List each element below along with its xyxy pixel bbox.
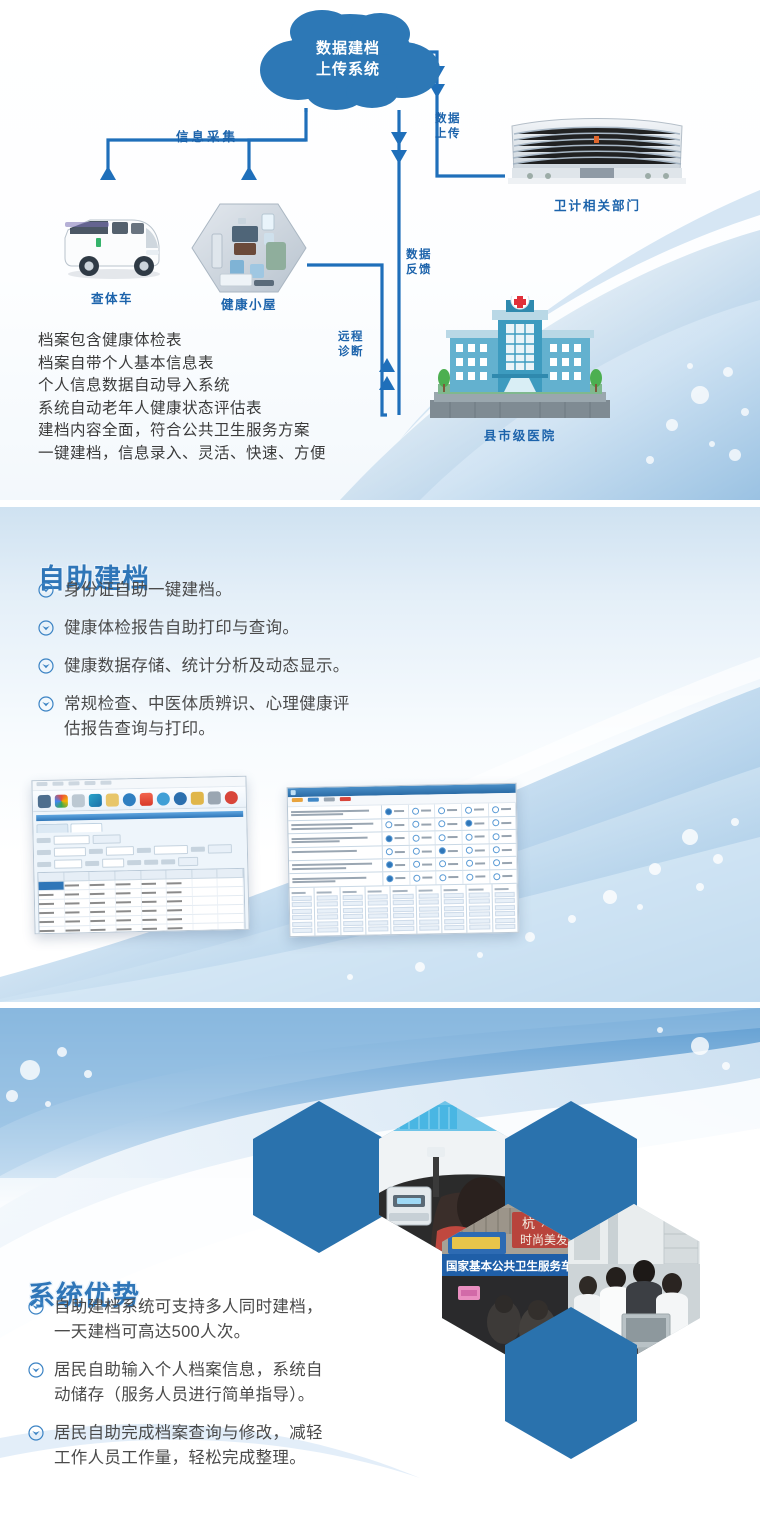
node-caption-health-authority: 卫计相关部门 <box>505 195 690 214</box>
flow-feedback-l2: 反馈 <box>406 263 450 278</box>
diagram-feature-items: 档案包含健康体检表 档案自带个人基本信息表 个人信息数据自动导入系统 系统自动老… <box>38 330 438 466</box>
list-item: 居民自助输入个人档案信息，系统自 动储存（服务人员进行简单指导）。 <box>28 1358 458 1408</box>
form-column[interactable] <box>340 886 367 937</box>
feature-item: 系统自动老年人健康状态评估表 <box>38 398 438 421</box>
toolbar-icon-chart[interactable] <box>140 793 153 806</box>
node-caption-exam-vehicle: 查体车 <box>62 288 162 307</box>
radio-option[interactable] <box>410 871 437 884</box>
toolbar-icon-tools[interactable] <box>208 791 221 804</box>
radio-option[interactable] <box>462 817 489 830</box>
window-icon <box>291 790 296 795</box>
list-item-text: 居民自助输入个人档案信息，系统自 动储存（服务人员进行简单指导）。 <box>54 1358 458 1408</box>
form-column[interactable] <box>492 883 519 937</box>
feature-item: 档案自带个人基本信息表 <box>38 353 438 376</box>
form-column[interactable] <box>315 887 342 937</box>
cloud-label-line1: 数据建档 <box>268 38 428 59</box>
node-caption-health-cabin: 健康小屋 <box>190 294 308 313</box>
radio-option[interactable] <box>490 830 517 843</box>
question-text <box>289 846 383 860</box>
toolbar-icon-2[interactable] <box>55 795 68 808</box>
radio-option[interactable] <box>490 843 517 856</box>
radio-option[interactable] <box>382 818 409 831</box>
radio-option[interactable] <box>437 871 464 884</box>
radio-option[interactable] <box>436 844 463 857</box>
radio-option[interactable] <box>409 845 436 858</box>
radio-option[interactable] <box>435 804 462 817</box>
form-column-grid[interactable] <box>290 883 519 937</box>
health-cabin-icon <box>190 202 308 294</box>
toolbar-icon-5[interactable] <box>123 793 136 806</box>
architecture-diagram: 数据建档 上传系统 信息采集 数据 上传 数据 反馈 远程 诊断 <box>0 0 760 500</box>
health-authority-building-icon <box>508 110 686 188</box>
option-group[interactable] <box>383 870 518 885</box>
assessment-form-grid[interactable] <box>288 803 519 937</box>
option-group[interactable] <box>382 816 517 831</box>
radio-option[interactable] <box>383 858 410 871</box>
county-city-hospital-icon <box>420 296 620 426</box>
chevron-down-circle-icon <box>38 619 54 635</box>
advantages-bullet-list: 自助建档系统可支持多人同时建档， 一天建档可高达500人次。 居民自助输入个人档… <box>28 1295 458 1484</box>
toolbar-icon-7[interactable] <box>174 792 187 805</box>
radio-option[interactable] <box>408 804 435 817</box>
radio-option[interactable] <box>436 817 463 830</box>
radio-option[interactable] <box>489 816 516 829</box>
form-column[interactable] <box>290 887 317 937</box>
chevron-down-circle-icon <box>28 1361 44 1377</box>
form-column[interactable] <box>365 886 392 937</box>
chevron-down-circle-icon <box>38 695 54 711</box>
question-text <box>288 832 382 846</box>
form-column[interactable] <box>416 885 443 937</box>
chevron-down-circle-icon <box>28 1298 44 1314</box>
list-item: 自助建档系统可支持多人同时建档， 一天建档可高达500人次。 <box>28 1295 458 1345</box>
list-item-text: 身份证自助一键建档。 <box>64 578 478 603</box>
radio-option[interactable] <box>382 845 409 858</box>
list-item: 健康体检报告自助打印与查询。 <box>38 616 478 641</box>
screenshot-data-grid[interactable] <box>37 868 245 934</box>
section-system-diagram: 数据建档 上传系统 信息采集 数据 上传 数据 反馈 远程 诊断 <box>0 0 760 500</box>
question-text <box>288 819 382 833</box>
toolbar-icon-1[interactable] <box>38 795 51 808</box>
toolbar-icon-search[interactable] <box>72 794 85 807</box>
toolbar-icon-4[interactable] <box>106 793 119 806</box>
radio-option[interactable] <box>409 858 436 871</box>
chevron-down-circle-icon <box>38 581 54 597</box>
radio-option[interactable] <box>462 803 489 816</box>
flow-label-data-upload: 数据 上传 <box>435 112 479 142</box>
list-item-text: 自助建档系统可支持多人同时建档， 一天建档可高达500人次。 <box>54 1295 458 1345</box>
screenshot-tabs[interactable] <box>36 820 243 833</box>
screenshot-query-row <box>37 844 244 857</box>
feature-item: 一键建档，信息录入、灵活、快速、方便 <box>38 443 438 466</box>
question-text <box>288 805 382 819</box>
toolbar-icon-6[interactable] <box>157 792 170 805</box>
elderly-health-assessment-form-screenshot[interactable] <box>287 783 520 937</box>
option-group[interactable] <box>382 803 517 818</box>
radio-option[interactable] <box>409 818 436 831</box>
radio-option[interactable] <box>382 832 409 845</box>
flow-feedback-l1: 数据 <box>406 248 450 263</box>
toolbar-icon-key[interactable] <box>191 792 204 805</box>
screenshot-filter-row <box>37 832 244 845</box>
option-group[interactable] <box>383 856 518 871</box>
list-item-text: 常规检查、中医体质辨识、心理健康评 估报告查询与打印。 <box>64 692 478 742</box>
flow-upload-l2: 上传 <box>435 127 479 142</box>
option-group[interactable] <box>382 830 517 845</box>
list-item: 健康数据存储、统计分析及动态显示。 <box>38 654 478 679</box>
feature-item: 个人信息数据自动导入系统 <box>38 375 438 398</box>
list-item: 身份证自助一键建档。 <box>38 578 478 603</box>
node-caption-county-hospital: 县市级医院 <box>420 425 620 444</box>
feature-item: 档案包含健康体检表 <box>38 330 438 353</box>
form-column[interactable] <box>441 884 468 937</box>
archive-management-app-screenshot[interactable] <box>31 776 249 934</box>
toolbar-icon-exit[interactable] <box>225 791 238 804</box>
chevron-down-circle-icon <box>28 1424 44 1440</box>
radio-option[interactable] <box>409 831 436 844</box>
toolbar-icon-3[interactable] <box>89 794 102 807</box>
flow-label-info-collect: 信息采集 <box>152 130 262 145</box>
radio-option[interactable] <box>436 831 463 844</box>
cloud-label: 数据建档 上传系统 <box>268 38 428 80</box>
radio-option[interactable] <box>463 830 490 843</box>
radio-option[interactable] <box>489 803 516 816</box>
radio-option[interactable] <box>490 856 517 869</box>
radio-option[interactable] <box>383 872 410 885</box>
radio-option[interactable] <box>463 870 490 883</box>
list-item-text: 健康数据存储、统计分析及动态显示。 <box>64 654 478 679</box>
flow-upload-l1: 数据 <box>435 112 479 127</box>
self-service-bullet-list: 身份证自助一键建档。 健康体检报告自助打印与查询。 健康数据存储、统计分析及动态… <box>38 578 478 755</box>
question-text <box>289 859 383 873</box>
list-item-text: 居民自助完成档案查询与修改，减轻 工作人员工作量，轻松完成整理。 <box>54 1421 458 1471</box>
chevron-down-circle-icon <box>38 657 54 673</box>
question-text <box>289 872 383 886</box>
poster-page: 数据建档 上传系统 信息采集 数据 上传 数据 反馈 远程 诊断 <box>0 0 760 1513</box>
screenshot-options-row <box>37 856 244 869</box>
radio-option[interactable] <box>463 844 490 857</box>
cloud-label-line2: 上传系统 <box>268 59 428 80</box>
radio-option[interactable] <box>382 805 409 818</box>
medical-exam-vehicle-icon <box>60 208 165 280</box>
screenshot-content-pane <box>33 808 249 934</box>
radio-option[interactable] <box>490 870 517 883</box>
flow-label-data-feedback: 数据 反馈 <box>406 248 450 278</box>
diagram-feature-list: 档案包含健康体检表 档案自带个人基本信息表 个人信息数据自动导入系统 系统自动老… <box>38 330 438 466</box>
radio-option[interactable] <box>436 857 463 870</box>
form-column[interactable] <box>391 885 418 937</box>
list-item: 常规检查、中医体质辨识、心理健康评 估报告查询与打印。 <box>38 692 478 742</box>
feature-item: 建档内容全面，符合公共卫生服务方案 <box>38 420 438 443</box>
list-item-text: 健康体检报告自助打印与查询。 <box>64 616 478 641</box>
radio-option[interactable] <box>463 857 490 870</box>
list-item: 居民自助完成档案查询与修改，减轻 工作人员工作量，轻松完成整理。 <box>28 1421 458 1471</box>
form-column[interactable] <box>467 884 494 937</box>
